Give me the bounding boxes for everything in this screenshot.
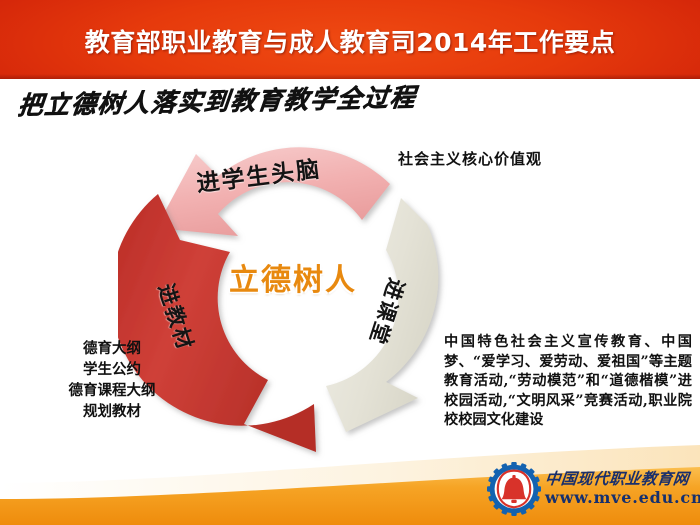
left-item: 德育大纲 <box>50 338 174 359</box>
left-item: 规划教材 <box>50 401 174 422</box>
diagram-center-label: 立德树人 <box>118 255 468 299</box>
right-heading: 社会主义核心价值观 <box>398 148 542 169</box>
subtitle-calligraphy: 把立德树人落实到教育教学全过程 <box>16 78 418 122</box>
left-item: 德育课程大纲 <box>50 380 174 401</box>
brand-text-group: 中国现代职业教育网 www.mve.edu.cn <box>545 471 700 507</box>
footer-brand[interactable]: 中国现代职业教育网 www.mve.edu.cn <box>487 458 697 520</box>
brand-url[interactable]: www.mve.edu.cn <box>545 490 700 507</box>
left-item: 学生公约 <box>50 359 174 380</box>
slide-canvas: 教育部职业教育与成人教育司2014年工作要点 把立德树人落实到教育教学全过程 <box>0 0 700 525</box>
left-item-list: 德育大纲 学生公约 德育课程大纲 规划教材 <box>50 338 174 422</box>
page-title: 教育部职业教育与成人教育司2014年工作要点 <box>0 0 700 79</box>
header-banner: 教育部职业教育与成人教育司2014年工作要点 <box>0 0 700 79</box>
site-logo-icon <box>487 462 541 516</box>
right-paragraph: 中国特色社会主义宣传教育、中国梦、“爱学习、爱劳动、爱祖国”等主题教育活动,“劳… <box>444 333 692 431</box>
brand-name: 中国现代职业教育网 <box>544 471 700 487</box>
